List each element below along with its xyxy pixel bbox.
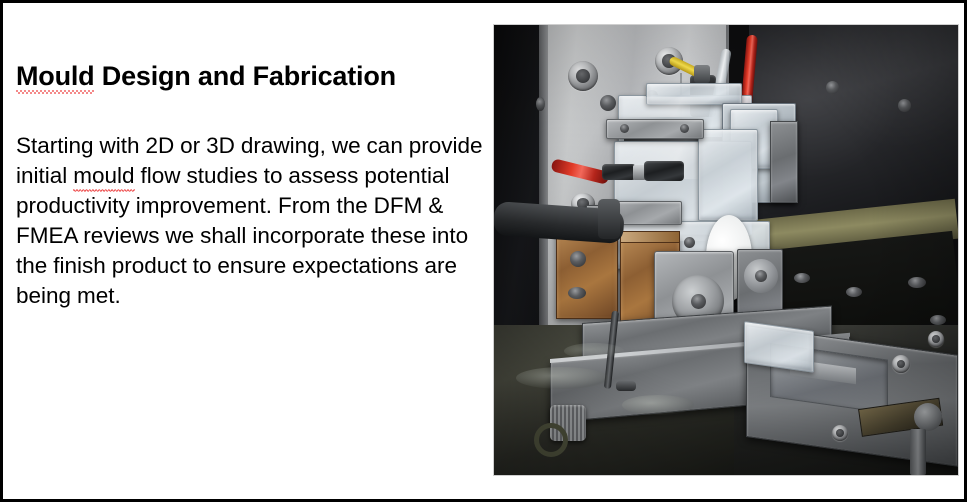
- electrode-hole-icon: [568, 287, 586, 299]
- panel-hole-icon: [908, 277, 926, 288]
- copper-electrode-right-top: [620, 231, 680, 243]
- heading-misspelled-word: Mould: [16, 61, 94, 92]
- bed-hose-collar: [598, 199, 620, 239]
- support-post-hole-icon: [755, 270, 767, 282]
- body-paragraph: Starting with 2D or 3D drawing, we can p…: [16, 131, 486, 311]
- base-plate-bolt-icon: [832, 425, 848, 441]
- mould-plate-hole-icon: [684, 237, 695, 248]
- dowel-hole-icon: [600, 95, 616, 111]
- toe-clamp-stud: [910, 429, 926, 475]
- manifold-side-rib: [770, 121, 798, 203]
- page-title: Mould Design and Fabrication: [16, 61, 396, 92]
- base-plate-bolt-icon: [892, 355, 910, 373]
- toe-clamp-nut-icon: [914, 403, 942, 431]
- heading-rest: Design and Fabrication: [94, 61, 395, 91]
- coolant-nozzle-tip: [616, 381, 636, 391]
- text-column: Mould Design and Fabrication Starting wi…: [16, 3, 486, 499]
- panel-hole-icon: [846, 287, 862, 297]
- slide-canvas: Mould Design and Fabrication Starting wi…: [0, 0, 967, 502]
- hose-barb-fitting: [602, 164, 636, 180]
- panel-hole-icon: [930, 315, 946, 325]
- bed-reflection: [564, 343, 624, 359]
- pull-ring-icon: [534, 423, 568, 457]
- panel-hole-icon: [794, 273, 810, 283]
- mould-top-plate-riser: [646, 83, 742, 105]
- bed-reflection: [516, 367, 608, 389]
- clamp-bar-hole-icon: [680, 124, 689, 133]
- clamping-bolt-icon: [568, 61, 598, 91]
- panel-hole-icon: [826, 81, 839, 94]
- solenoid-body: [644, 161, 684, 181]
- dowel-hole-icon: [536, 97, 545, 111]
- clamp-boss-hole-icon: [691, 294, 706, 309]
- mould-machining-photo: [494, 25, 958, 475]
- electrode-hole-icon: [570, 251, 586, 267]
- clamp-bar-hole-icon: [620, 124, 629, 133]
- yellow-hose-fitting: [694, 65, 710, 83]
- panel-hole-icon: [898, 99, 911, 112]
- body-misspelled-word: mould: [73, 161, 134, 191]
- base-plate-bolt-icon: [928, 331, 944, 347]
- bed-reflection: [622, 395, 694, 415]
- mould-core-shoulder: [698, 129, 758, 221]
